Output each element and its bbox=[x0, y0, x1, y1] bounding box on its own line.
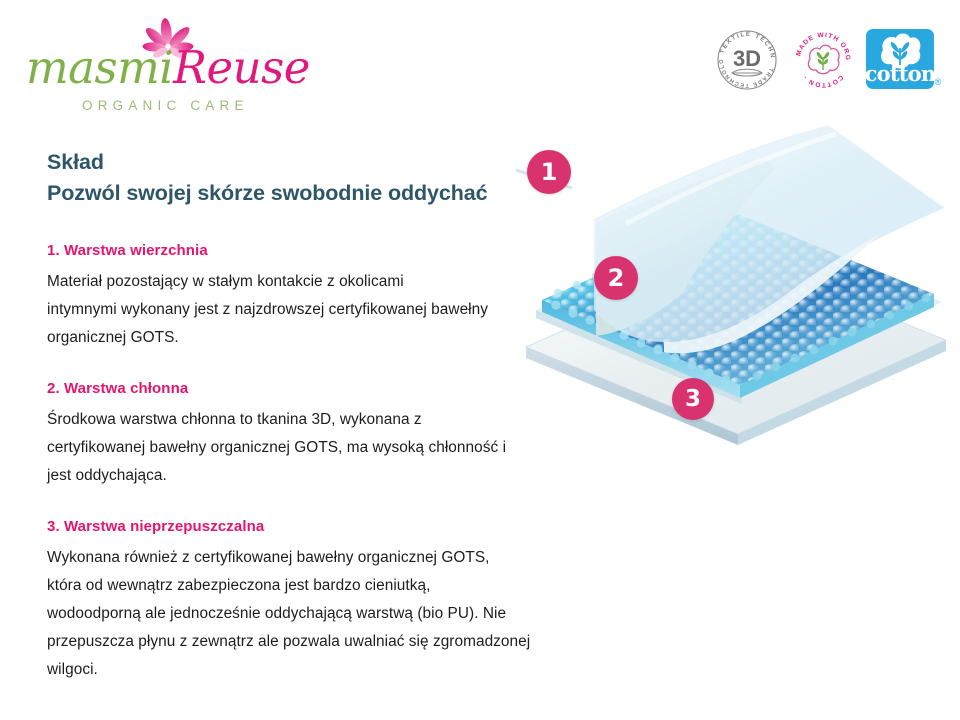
text-line: przepuszcza płynu z zewnątrz ale pozwala… bbox=[47, 628, 672, 656]
badge-cotton-inc-icon: cotton ® bbox=[866, 27, 944, 93]
layer-badge-3: 3 bbox=[672, 378, 714, 420]
svg-text:COTTON -: COTTON - bbox=[801, 73, 844, 88]
layer-section-3-title: 3. Warstwa nieprzepuszczalna bbox=[47, 516, 672, 538]
certification-badges: TEXTILE TECHNOLOGY TRADE TECHNOLOGY 3D M… bbox=[714, 24, 944, 96]
page-header: masmiReuse ORGANIC CARE TEXTILE TECHNOLO… bbox=[0, 0, 960, 118]
layer-section-3-body: Wykonana również z certyfikowanej bawełn… bbox=[47, 544, 672, 684]
svg-text:3D: 3D bbox=[733, 46, 761, 71]
layer-badge-1: 1 bbox=[527, 150, 571, 194]
svg-text:®: ® bbox=[935, 77, 942, 87]
text-line: wilgoci. bbox=[47, 656, 672, 684]
brand-wordmark: masmiReuse bbox=[26, 44, 276, 92]
brand-tagline: ORGANIC CARE bbox=[82, 98, 249, 113]
layer-section-3: 3. Warstwa nieprzepuszczalna Wykonana ró… bbox=[47, 516, 672, 684]
text-line: która od wewnątrz zabezpieczona jest bar… bbox=[47, 572, 672, 600]
brand-name-reuse: Reuse bbox=[173, 41, 310, 94]
text-line: wodoodporną ale jednocześnie oddychającą… bbox=[47, 600, 672, 628]
svg-text:cotton: cotton bbox=[866, 61, 936, 86]
brand-logo: masmiReuse ORGANIC CARE bbox=[26, 18, 276, 110]
text-line: Wykonana również z certyfikowanej bawełn… bbox=[47, 544, 672, 572]
brand-name-masmi: masmi bbox=[26, 41, 173, 94]
badge-3d-textile-technology-icon: TEXTILE TECHNOLOGY TRADE TECHNOLOGY 3D bbox=[714, 27, 780, 93]
product-layer-illustration: 1 2 3 bbox=[476, 104, 960, 474]
layer-badge-2: 2 bbox=[594, 256, 638, 300]
badge-made-with-organic-cotton-icon: MADE WITH ORGANIC COTTON - bbox=[790, 27, 856, 93]
